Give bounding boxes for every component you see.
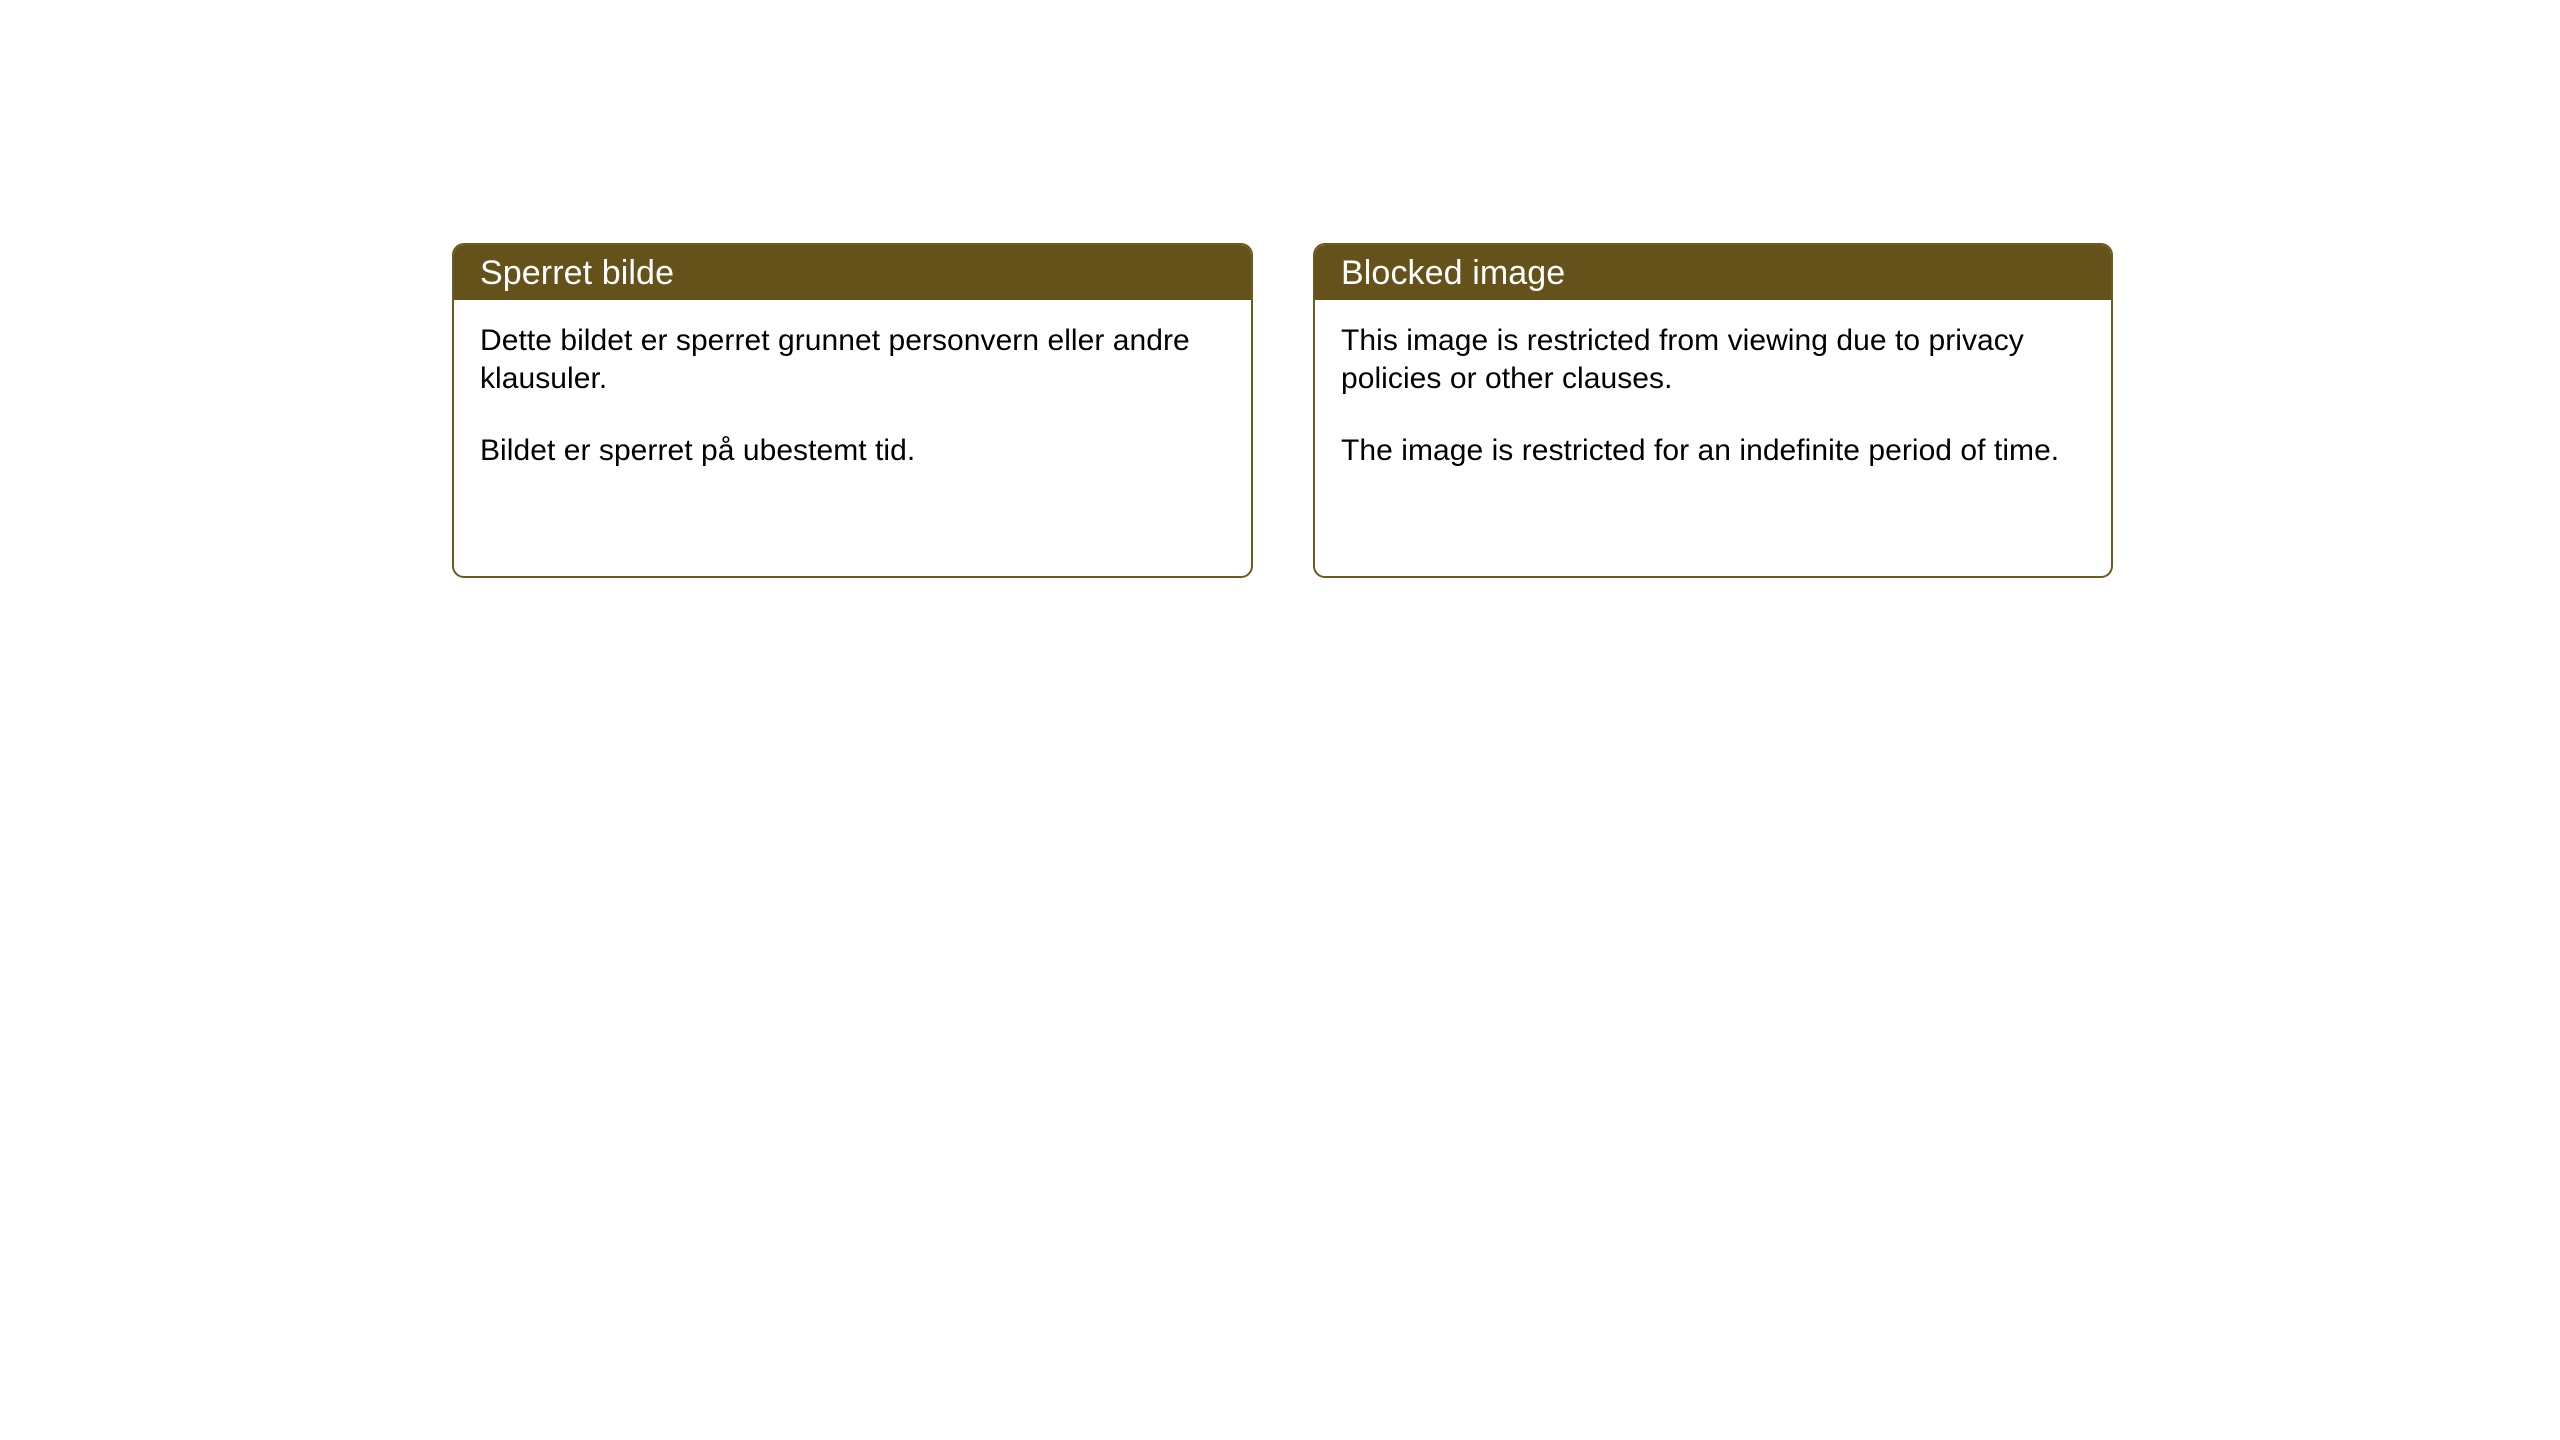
blocked-image-card-en-paragraph-1: This image is restricted from viewing du… [1341,322,2087,398]
blocked-image-card-no: Sperret bilde Dette bildet er sperret gr… [452,243,1253,578]
blocked-image-card-no-body: Dette bildet er sperret grunnet personve… [454,300,1251,470]
blocked-image-card-no-header: Sperret bilde [454,245,1251,300]
blocked-image-card-en-title: Blocked image [1341,256,1565,290]
blocked-image-card-en-paragraph-2: The image is restricted for an indefinit… [1341,432,2087,470]
blocked-image-card-no-paragraph-1: Dette bildet er sperret grunnet personve… [480,322,1227,398]
page-canvas: Sperret bilde Dette bildet er sperret gr… [0,0,2560,1440]
blocked-image-card-en-header: Blocked image [1315,245,2111,300]
blocked-image-card-en: Blocked image This image is restricted f… [1313,243,2113,578]
blocked-image-card-no-title: Sperret bilde [480,256,674,290]
blocked-image-card-no-paragraph-2: Bildet er sperret på ubestemt tid. [480,432,1227,470]
blocked-image-card-en-body: This image is restricted from viewing du… [1315,300,2111,470]
